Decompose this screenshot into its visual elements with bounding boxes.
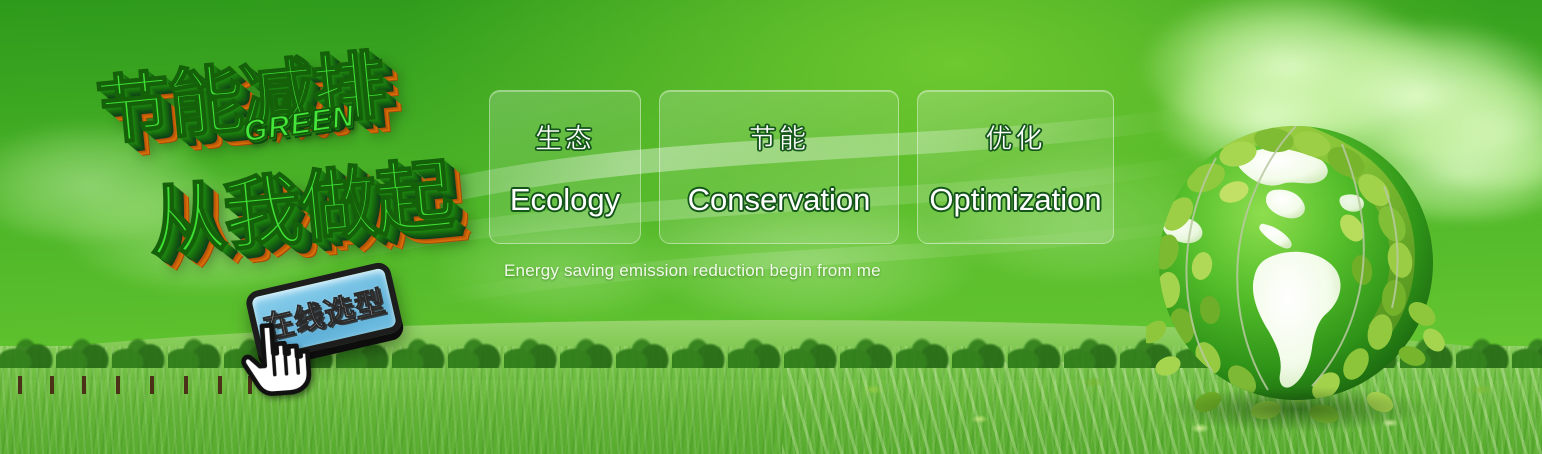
banner-tagline: Energy saving emission reduction begin f…	[504, 261, 881, 281]
globe-graphic	[1146, 118, 1446, 428]
feature-card-ecology[interactable]: 生态 Ecology	[489, 90, 641, 244]
feature-card-en-label: Optimization	[929, 182, 1101, 218]
ivy-covered-globe-icon	[1146, 118, 1446, 428]
globe-shadow	[1160, 386, 1432, 432]
eco-banner: 节能减排 从我做起 GREEN 在线选型 生态 Ecology 节能 Conse…	[0, 0, 1542, 454]
feature-card-conservation[interactable]: 节能 Conservation	[659, 90, 899, 244]
feature-card-en-label: Conservation	[688, 182, 871, 218]
feature-card-cn-label: 节能	[749, 117, 809, 156]
headline-artwork: 节能减排 从我做起 GREEN	[86, 15, 507, 287]
hand-pointer-icon	[235, 315, 316, 400]
feature-card-list: 生态 Ecology 节能 Conservation 优化 Optimizati…	[489, 90, 1114, 244]
feature-card-cn-label: 优化	[986, 117, 1046, 156]
feature-card-optimization[interactable]: 优化 Optimization	[917, 90, 1114, 244]
feature-card-en-label: Ecology	[510, 182, 620, 218]
feature-card-cn-label: 生态	[535, 117, 595, 156]
